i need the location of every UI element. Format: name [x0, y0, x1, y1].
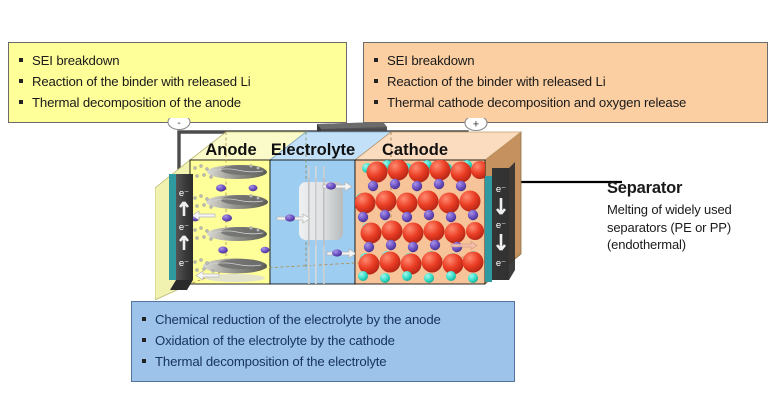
list-item-label: Reaction of the binder with released Li: [32, 74, 250, 89]
cathode-thermal-callout-box: SEI breakdown Reaction of the binder wit…: [363, 42, 768, 123]
cathode-thermal-list: SEI breakdown Reaction of the binder wit…: [372, 50, 757, 113]
list-item: Thermal cathode decomposition and oxygen…: [372, 92, 757, 113]
list-item-label: Thermal decomposition of the anode: [32, 95, 241, 110]
list-item: Reaction of the binder with released Li: [17, 71, 336, 92]
list-item-label: Chemical reduction of the electrolyte by…: [155, 312, 441, 327]
anode-thermal-list: SEI breakdown Reaction of the binder wit…: [17, 50, 336, 113]
collector-electron-label: e⁻: [496, 220, 506, 231]
separator-desc-line: separators (PE or PP): [607, 219, 773, 237]
bullet-square-icon: [374, 100, 378, 104]
list-item-label: SEI breakdown: [32, 53, 119, 68]
separator-callout: Separator Melting of widely used separat…: [607, 179, 773, 254]
bullet-square-icon: [374, 58, 378, 62]
figure-canvas: SEI breakdown Reaction of the binder wit…: [0, 0, 773, 420]
list-item: Oxidation of the electrolyte by the cath…: [140, 330, 504, 351]
collector-electron-label: e⁻: [496, 184, 506, 195]
list-item: SEI breakdown: [17, 50, 336, 71]
battery-cell-diagram: - +: [155, 118, 550, 300]
separator-desc-line: Melting of widely used: [607, 201, 773, 219]
positive-terminal-icon: +: [465, 118, 487, 131]
list-item: Chemical reduction of the electrolyte by…: [140, 309, 504, 330]
region-label-anode: Anode: [205, 141, 256, 159]
bullet-square-icon: [374, 79, 378, 83]
positive-terminal-label: +: [473, 119, 479, 131]
negative-terminal-label: -: [177, 118, 180, 129]
collector-electron-label: e⁻: [179, 222, 189, 233]
separator-callout-description: Melting of widely used separators (PE or…: [607, 201, 773, 254]
list-item-label: SEI breakdown: [387, 53, 474, 68]
list-item: Reaction of the binder with released Li: [372, 71, 757, 92]
negative-terminal-icon: -: [168, 118, 190, 130]
bullet-square-icon: [19, 58, 23, 62]
list-item-label: Oxidation of the electrolyte by the cath…: [155, 333, 395, 348]
list-item-label: Thermal decomposition of the electrolyte: [155, 354, 387, 369]
region-label-electrolyte: Electrolyte: [271, 141, 355, 159]
bullet-square-icon: [142, 317, 146, 321]
collector-electron-label: e⁻: [179, 188, 189, 199]
separator-desc-line: (endothermal): [607, 236, 773, 254]
electrolyte-thermal-list: Chemical reduction of the electrolyte by…: [140, 309, 504, 372]
anode-thermal-callout-box: SEI breakdown Reaction of the binder wit…: [8, 42, 347, 123]
separator-callout-title: Separator: [607, 179, 773, 198]
region-label-cathode: Cathode: [382, 141, 448, 159]
list-item: Thermal decomposition of the anode: [17, 92, 336, 113]
list-item: Thermal decomposition of the electrolyte: [140, 351, 504, 372]
bullet-square-icon: [142, 359, 146, 363]
cathode-current-collector: e⁻ e⁻ e⁻: [485, 162, 515, 282]
list-item: SEI breakdown: [372, 50, 757, 71]
list-item-label: Reaction of the binder with released Li: [387, 74, 605, 89]
collector-electron-label: e⁻: [496, 258, 506, 269]
bullet-square-icon: [19, 79, 23, 83]
anode-current-collector: e⁻ e⁻ e⁻: [169, 174, 193, 290]
bullet-square-icon: [19, 100, 23, 104]
list-item-label: Thermal cathode decomposition and oxygen…: [387, 95, 686, 110]
collector-electron-label: e⁻: [179, 258, 189, 269]
electrolyte-thermal-callout-box: Chemical reduction of the electrolyte by…: [131, 301, 515, 382]
bullet-square-icon: [142, 338, 146, 342]
